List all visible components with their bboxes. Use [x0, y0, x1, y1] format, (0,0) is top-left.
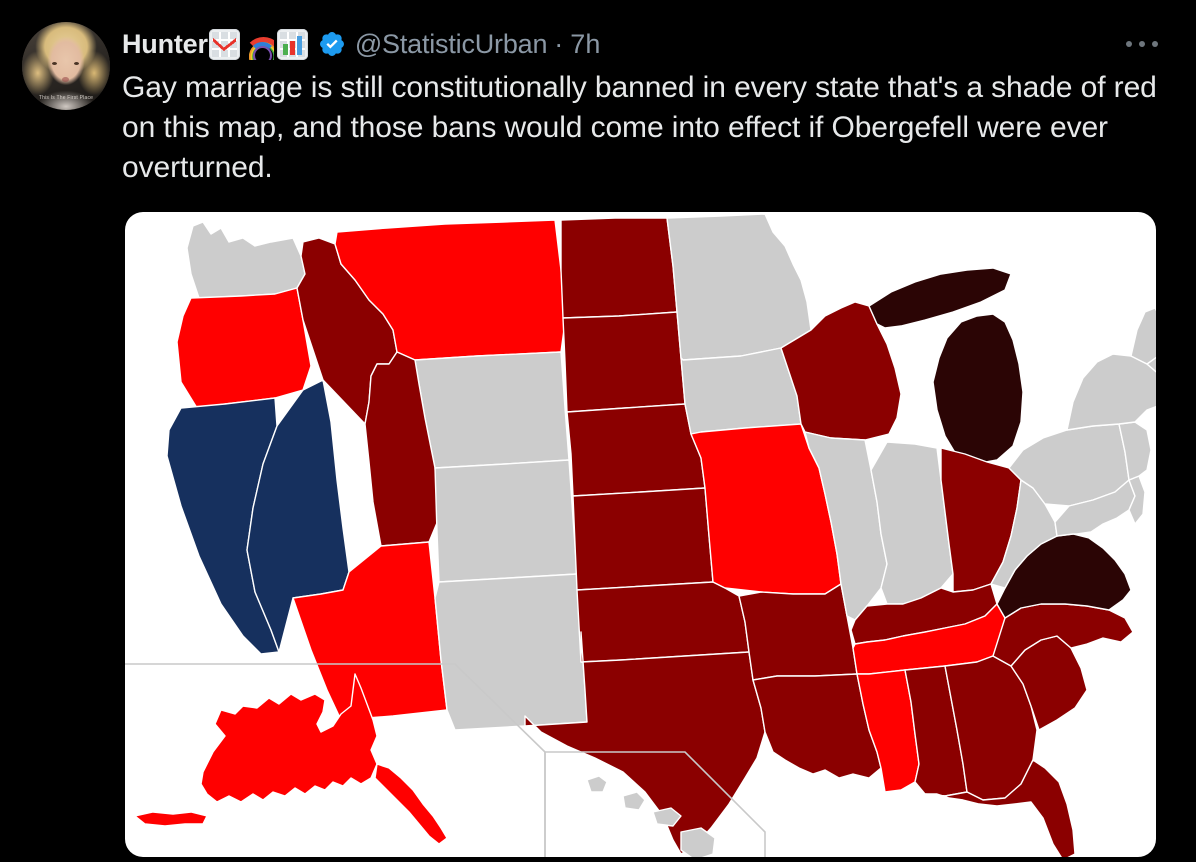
- state-AK-aleutians: [135, 812, 207, 826]
- state-OR: [177, 288, 311, 408]
- avatar[interactable]: This Is The First Place: [22, 22, 110, 110]
- state-SD: [563, 312, 685, 412]
- rainbow-icon: [243, 29, 274, 60]
- state-AR: [739, 584, 857, 680]
- avatar-watermark: This Is The First Place: [22, 95, 110, 101]
- bar-chart-icon: [277, 29, 308, 60]
- more-dot: [1139, 41, 1145, 47]
- state-MN: [667, 214, 811, 360]
- tweet-body-text: Gay marriage is still constitutionally b…: [122, 68, 1157, 188]
- chart-increasing-icon: [209, 29, 240, 60]
- display-name-emoji-run: [209, 29, 311, 60]
- state-NE: [567, 404, 705, 496]
- state-CO: [435, 460, 577, 582]
- meta-separator: ·: [554, 29, 563, 60]
- author-row: Hunter @StatisticUrban · 7h: [122, 22, 1174, 66]
- state-KS: [573, 488, 713, 590]
- state-HI-kauai: [587, 776, 607, 792]
- verified-badge-icon: [318, 30, 346, 58]
- us-choropleth-map: [125, 212, 1156, 857]
- state-WY: [415, 352, 569, 468]
- tweet-timestamp[interactable]: 7h: [570, 29, 600, 60]
- state-HI-bigisland: [681, 828, 715, 857]
- more-options-icon[interactable]: [1122, 30, 1162, 58]
- state-NY: [1067, 354, 1156, 430]
- state-NM: [435, 574, 587, 730]
- state-HI-oahu: [623, 792, 645, 810]
- state-AK-tail: [375, 764, 447, 844]
- state-MI-lower: [933, 314, 1023, 464]
- state-IA: [681, 348, 801, 434]
- author-display-name[interactable]: Hunter: [122, 29, 208, 60]
- author-handle[interactable]: @StatisticUrban: [355, 29, 547, 60]
- state-ND: [561, 218, 677, 318]
- state-VT: [1131, 308, 1156, 364]
- more-dot: [1152, 41, 1158, 47]
- state-OK: [577, 582, 749, 662]
- tweet-container: This Is The First Place Hunter @Statisti…: [0, 0, 1196, 862]
- map-media-card[interactable]: [125, 212, 1156, 857]
- state-WA: [187, 222, 305, 298]
- more-dot: [1126, 41, 1132, 47]
